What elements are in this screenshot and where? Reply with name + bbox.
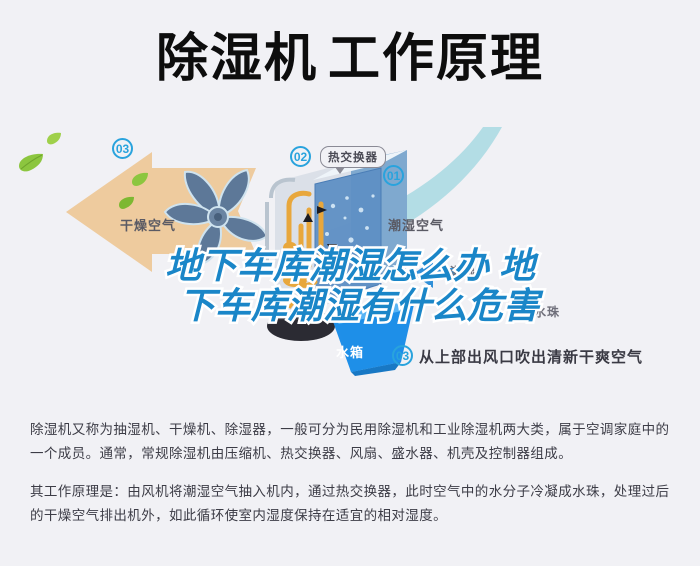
- step-badge-03: 03: [112, 138, 133, 159]
- bottom-note-text: 从上部出风口吹出清新干爽空气: [419, 346, 643, 367]
- page-title: 除湿机工作原理: [0, 30, 700, 88]
- title-part-2: 工作原理: [328, 30, 544, 88]
- step-badge-03-bottom: 03: [392, 345, 413, 366]
- article-paragraph-2: 其工作原理是：由风机将潮湿空气抽入机内，通过热交换器，此时空气中的水分子冷凝成水…: [30, 480, 675, 528]
- humid-air-label: 潮湿空气: [388, 215, 444, 234]
- article-body: 除湿机又称为抽湿机、干燥机、除湿器，一般可分为民用除湿机和工业除湿机两大类，属于…: [30, 418, 675, 542]
- leaf-icon: [46, 132, 62, 146]
- water-tank-label: 水箱: [336, 342, 364, 361]
- headline-line-2: 下车库潮湿有什么危害: [0, 286, 700, 326]
- step-badge-02: 02: [290, 146, 311, 167]
- title-part-1: 除湿机: [156, 30, 318, 88]
- leaf-icon: [118, 196, 135, 211]
- article-paragraph-1: 除湿机又称为抽湿机、干燥机、除湿器，一般可分为民用除湿机和工业除湿机两大类，属于…: [30, 418, 675, 466]
- leaf-icon: [18, 153, 44, 173]
- leaf-icon: [131, 172, 149, 188]
- headline-line-1: 地下车库潮湿怎么办 地: [0, 246, 700, 286]
- headline-overlay: 地下车库潮湿怎么办 地 下车库潮湿有什么危害: [0, 246, 700, 326]
- dry-air-label: 干燥空气: [120, 215, 176, 234]
- step-badge-01: 01: [383, 165, 404, 186]
- heat-exchanger-label: 热交换器: [320, 146, 386, 168]
- page-root: 除湿机工作原理: [0, 0, 700, 566]
